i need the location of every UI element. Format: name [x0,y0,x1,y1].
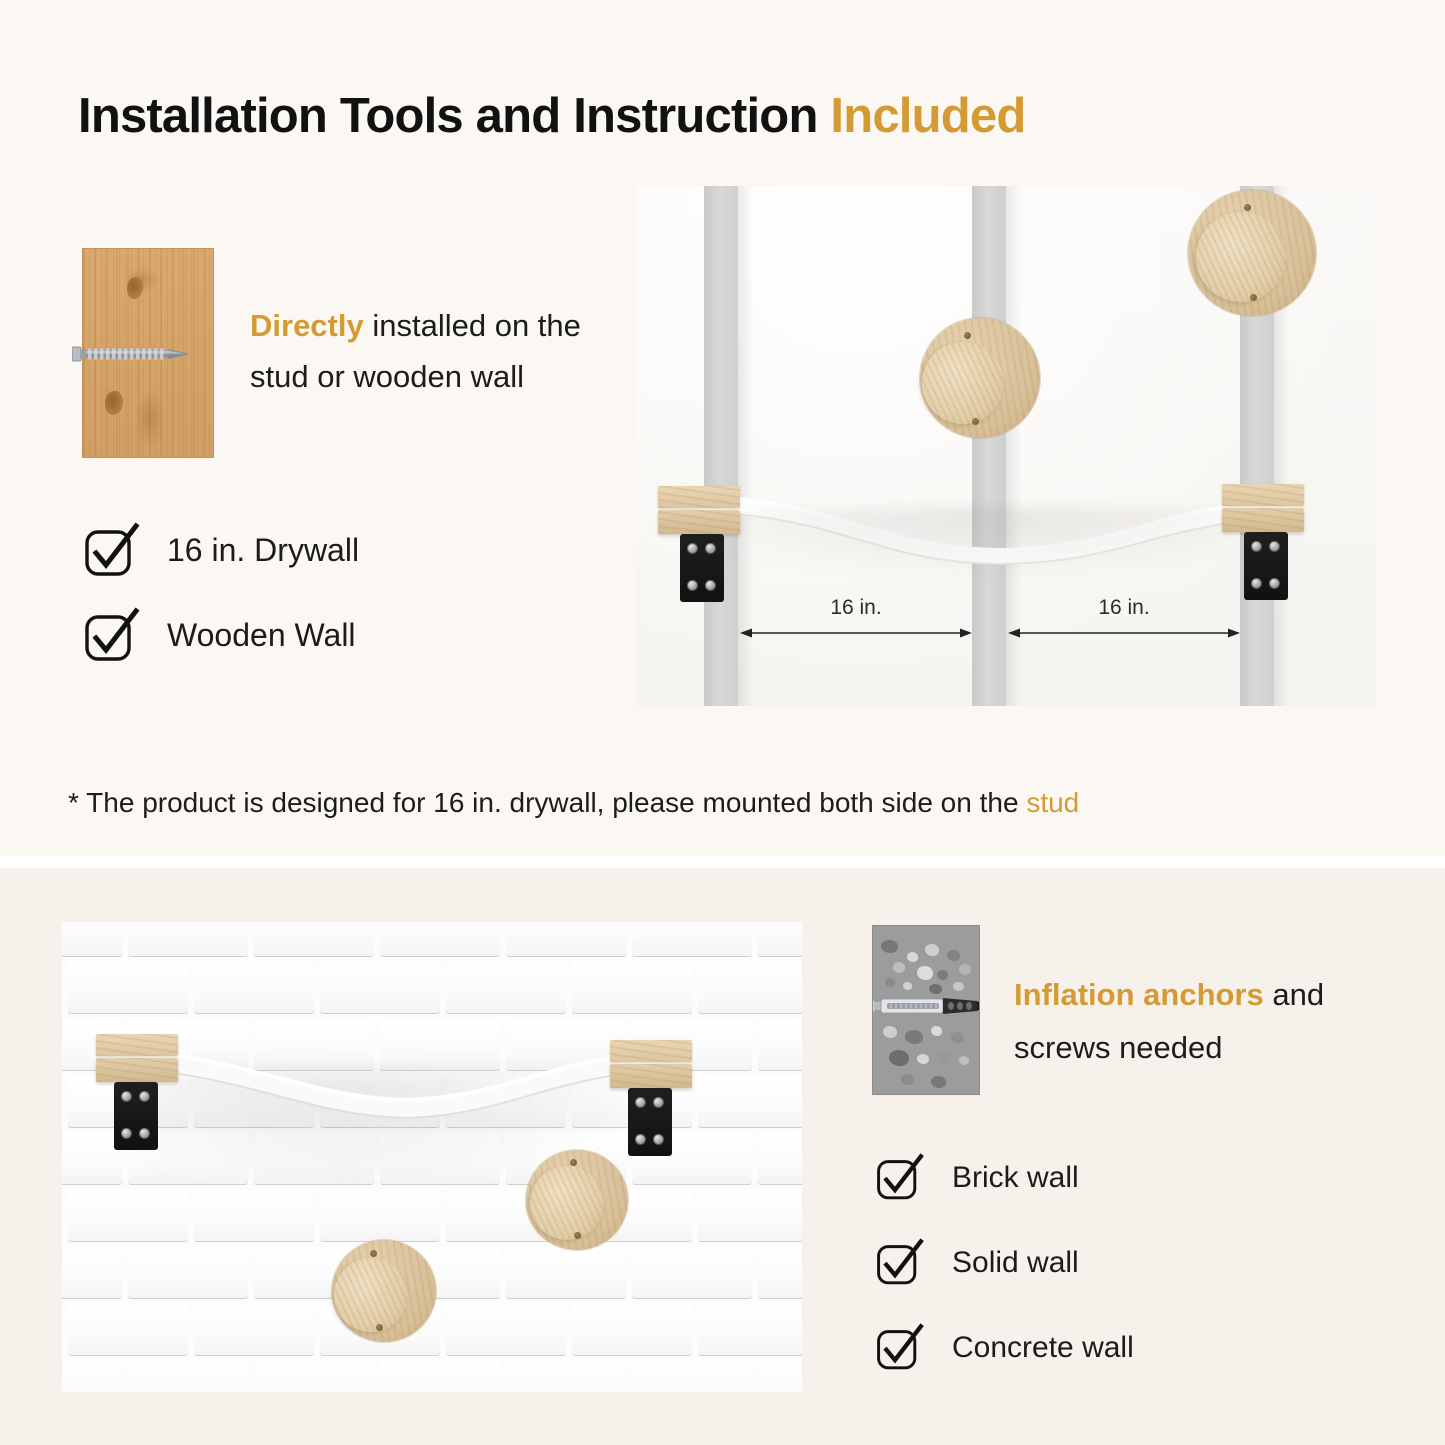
list-item-label: Wooden Wall [167,617,356,654]
bracket-metal-plate [628,1088,672,1156]
aggregate [885,978,895,987]
bracket-wood-upper [610,1040,692,1062]
bracket-screw [121,1128,132,1139]
list-item-label: Concrete wall [952,1331,1134,1365]
directly-callout-accent: Directly [250,308,364,343]
aggregate [947,950,960,961]
knob-screw [964,332,971,339]
dimension-label: 16 in. [1008,596,1240,620]
section-divider [0,856,1445,868]
bracket-screw [139,1128,150,1139]
footnote: * The product is designed for 16 in. dry… [68,787,1079,819]
list-item[interactable]: 16 in. Drywall [84,508,359,593]
wall-stud [972,186,1006,706]
aggregate [905,1030,923,1044]
checkbox-checked-icon[interactable] [84,522,142,580]
aggregate [889,1050,909,1066]
bracket-wood-lower [1222,508,1304,532]
page-title: Installation Tools and Instruction Inclu… [78,88,1025,144]
checkbox-checked-icon[interactable] [876,1323,926,1373]
knob-front-cylinder [922,342,1004,424]
bracket-screw [705,580,716,591]
knob-screw [1250,294,1257,301]
expansion-anchor-icon [872,994,980,1018]
list-item[interactable]: Brick wall [876,1135,1134,1220]
dimension-arrow-left: 16 in. [740,626,972,640]
knob-screw [574,1232,581,1239]
bracket-screw [1269,541,1280,552]
brick-course [62,1358,802,1392]
bracket-screw [121,1091,132,1102]
aggregate [925,944,939,956]
bracket-wood-lower [658,510,740,534]
aggregate [953,982,964,991]
aggregate [883,1026,897,1038]
bracket-screw [687,580,698,591]
knob-front-cylinder [1196,212,1286,302]
directly-callout: Directly installed on the stud or wooden… [250,300,610,402]
aggregate [937,970,948,980]
list-item[interactable]: Solid wall [876,1220,1134,1305]
list-item-label: Solid wall [952,1246,1079,1280]
brick-course [62,1187,802,1244]
knob-screw [376,1324,383,1331]
hammock-shadow [676,508,1296,578]
list-item-label: 16 in. Drywall [167,532,359,569]
footnote-text: * The product is designed for 16 in. dry… [68,787,1026,818]
bracket-wood-upper [96,1034,178,1056]
list-item-label: Brick wall [952,1161,1079,1195]
brick-course [62,959,802,1016]
bracket-screw [635,1097,646,1108]
knob-front-cylinder [530,1166,604,1240]
wooden-peg-knob [920,318,1040,438]
bracket-screw [687,543,698,554]
top-checklist: 16 in. Drywall Wooden Wall [84,508,359,678]
bracket-screw [139,1091,150,1102]
wooden-peg-knob [1188,190,1316,316]
concrete-block-with-anchor-icon [872,925,980,1095]
aggregate [917,966,933,980]
aggregate [881,940,898,953]
bracket-screw [653,1097,664,1108]
knob-screw [370,1250,377,1257]
checkbox-checked-icon[interactable] [876,1238,926,1288]
wood-knot [105,391,123,415]
aggregate [959,964,971,975]
wall-stud [704,186,738,706]
checkbox-checked-icon[interactable] [84,607,142,665]
wood-plank-with-screw-icon [82,248,214,458]
inflation-callout-accent: Inflation anchors [1014,977,1264,1012]
stud-wall-illustration: 16 in. 16 in. [636,186,1376,706]
aggregate [929,984,942,994]
aggregate [959,1056,969,1065]
aggregate [893,962,905,973]
aggregate [917,1054,929,1064]
page-title-accent: Included [830,89,1025,143]
infographic-page: Installation Tools and Instruction Inclu… [0,0,1445,1445]
wood-grain [135,389,165,449]
aggregate [907,952,918,962]
bracket-metal-plate [680,534,724,602]
wooden-peg-knob [332,1240,436,1342]
aggregate [931,1076,946,1088]
knob-front-cylinder [334,1258,408,1332]
brick-course [62,922,802,959]
bracket-screw [1269,578,1280,589]
knob-screw [972,418,979,425]
knob-screw [1244,204,1251,211]
bracket-metal-plate [1244,532,1288,600]
footnote-accent: stud [1026,787,1079,818]
bracket-screw [653,1134,664,1145]
aggregate [931,1026,942,1036]
aggregate [903,982,912,990]
inflation-anchors-callout: Inflation anchors and screws needed [1014,968,1394,1074]
wooden-peg-knob [526,1150,628,1250]
dimension-label: 16 in. [740,596,972,620]
bottom-checklist: Brick wall Solid wall Concrete wall [876,1135,1134,1390]
bracket-wood-upper [1222,484,1304,506]
page-title-main: Installation Tools and Instruction [78,89,830,143]
wood-knot [127,277,143,299]
list-item[interactable]: Wooden Wall [84,593,359,678]
knob-screw [570,1159,577,1166]
canvas-hammock [108,1042,668,1132]
bracket-screw [635,1134,646,1145]
screw-icon [72,343,194,365]
checkbox-checked-icon[interactable] [876,1153,926,1203]
bracket-screw [1251,578,1262,589]
aggregate [951,1032,964,1043]
bracket-screw [705,543,716,554]
aggregate [901,1074,914,1085]
bracket-wood-lower [610,1064,692,1088]
brick-wall-photo [62,922,802,1392]
list-item[interactable]: Concrete wall [876,1305,1134,1390]
bracket-wood-lower [96,1058,178,1082]
bracket-metal-plate [114,1082,158,1150]
bracket-screw [1251,541,1262,552]
dimension-arrow-right: 16 in. [1008,626,1240,640]
bracket-wood-upper [658,486,740,508]
aggregate [937,1052,951,1064]
